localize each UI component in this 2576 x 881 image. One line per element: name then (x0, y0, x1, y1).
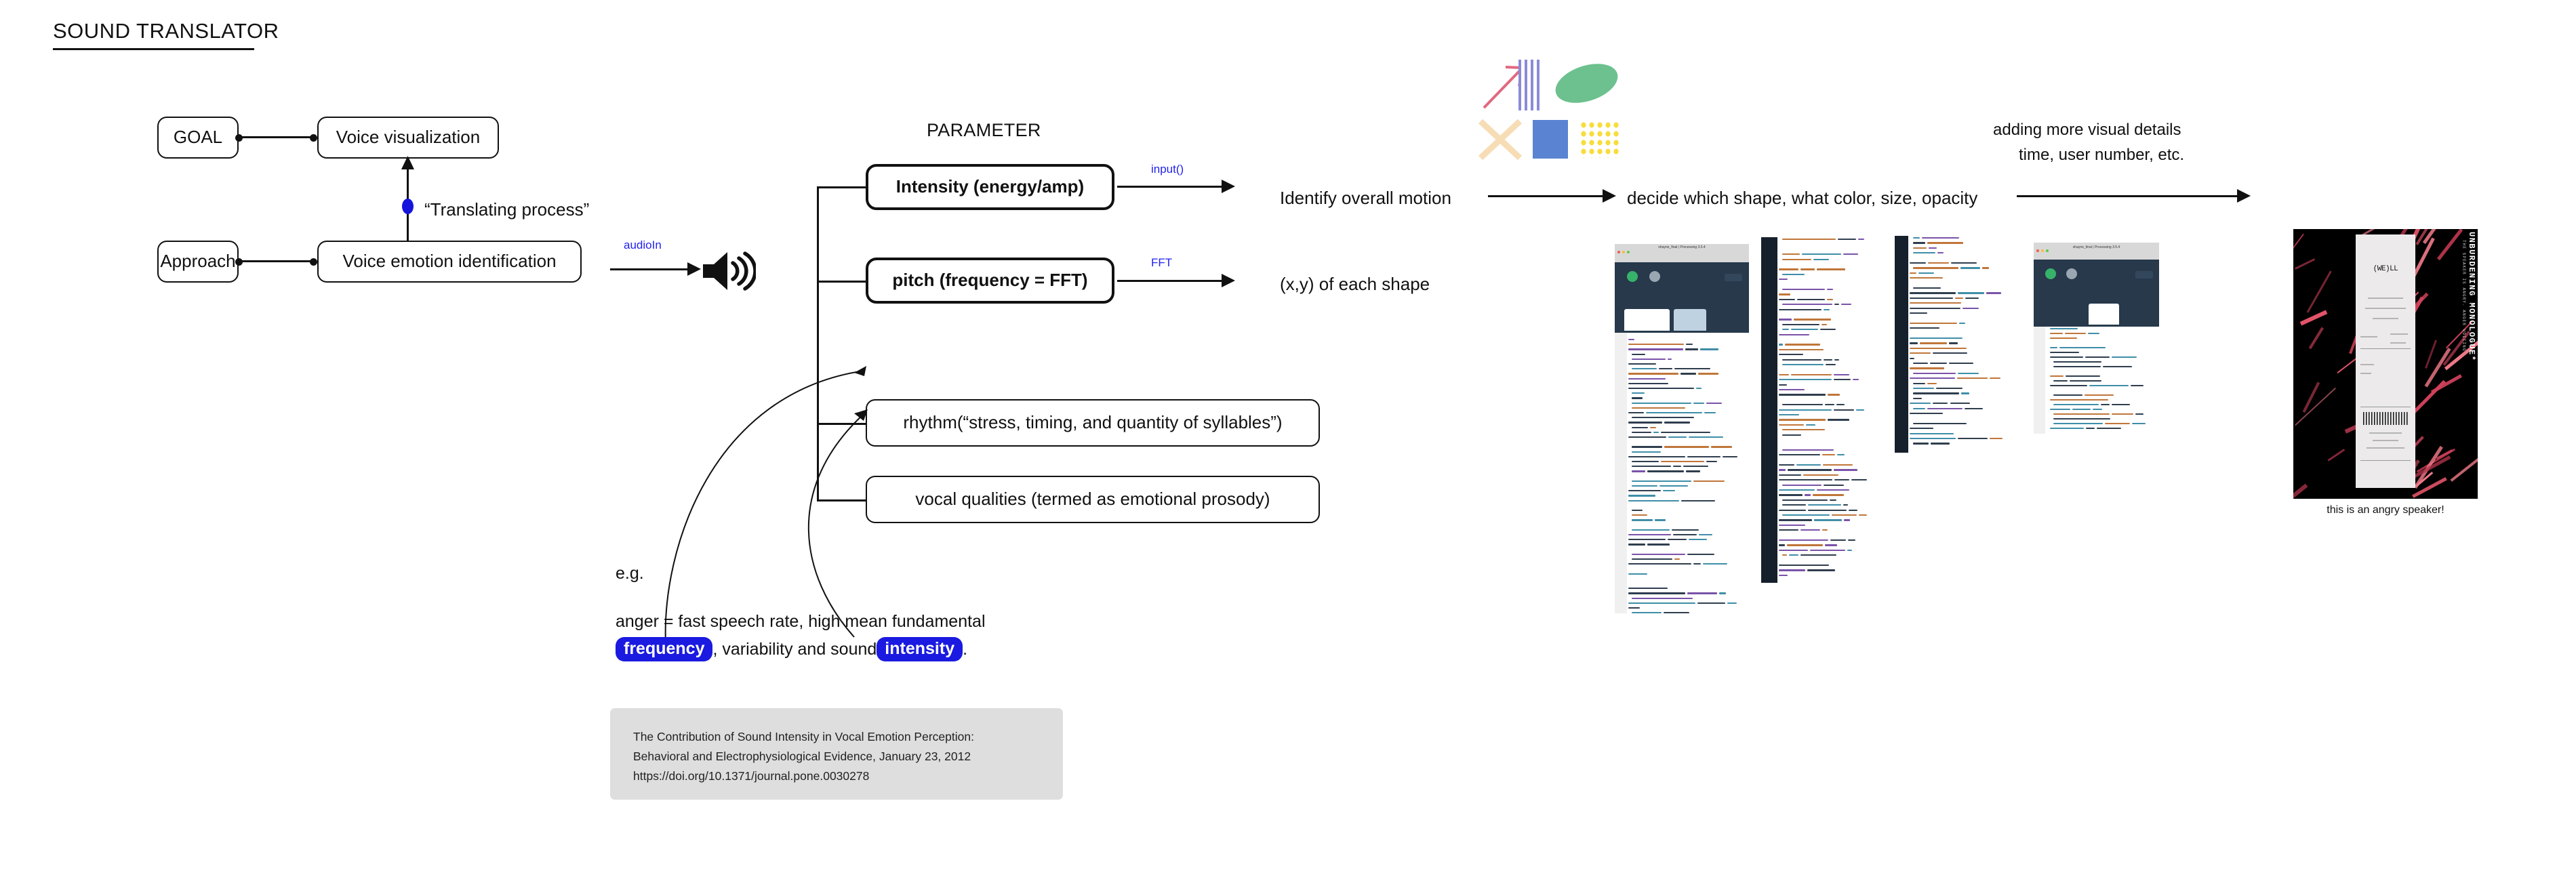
pitch-out-arrow-head (1222, 273, 1236, 288)
parameter-section-title: PARAMETER (927, 120, 1041, 141)
highlight-frequency: frequency (616, 637, 712, 661)
example-tail-text: . (963, 640, 967, 659)
poster-brush-stroke (2295, 258, 2315, 269)
citation-line-3[interactable]: https://doi.org/10.1371/journal.pone.003… (633, 766, 1040, 786)
stop-button-icon[interactable] (1649, 271, 1660, 282)
parameter-box-rhythm[interactable]: rhythm(“stress, timing, and quantity of … (866, 399, 1320, 447)
diagram-canvas: SOUND TRANSLATOR GOAL Voice visualizatio… (0, 0, 2576, 881)
goal-label: GOAL (174, 127, 222, 148)
poster-logo: (WE)LL (2356, 265, 2415, 273)
citation-line-1: The Contribution of Sound Intensity in V… (633, 727, 1040, 747)
code-window-1-titlebar: shayne_final | Processing 3.5.4 (1615, 244, 1749, 262)
pipeline-details-line-1: adding more visual details (1993, 121, 2181, 140)
poster-brush-stroke (2327, 449, 2345, 462)
poster-brush-stroke (2306, 271, 2331, 314)
square-shape (1533, 120, 1568, 159)
run-button-icon[interactable] (2045, 268, 2056, 279)
code-window-1-editor[interactable] (1615, 333, 1749, 613)
intensity-out-arrow-head (1222, 179, 1236, 194)
code-window-1-title: shayne_final | Processing 3.5.4 (1615, 245, 1749, 249)
citation-line-2: Behavioral and Electrophysiological Evid… (633, 747, 1040, 766)
example-line-1: anger = fast speech rate, high mean fund… (616, 612, 986, 632)
run-button-icon[interactable] (1627, 271, 1638, 282)
voice-emotion-label: Voice emotion identification (342, 251, 556, 272)
code-window-4-title: shayne_final | Processing 3.5.4 (2034, 245, 2159, 249)
citation-box: The Contribution of Sound Intensity in V… (610, 708, 1063, 800)
code-window-4[interactable]: shayne_final | Processing 3.5.4 (2034, 243, 2159, 434)
cross-shape (1478, 119, 1523, 161)
window-controls-icon (1617, 251, 1630, 253)
pipeline-details-line-2: time, user number, etc. (2019, 146, 2184, 165)
parameter-label-intensity: Intensity (energy/amp) (896, 177, 1084, 197)
highlight-intensity: intensity (877, 637, 963, 661)
poster-brush-stroke (2293, 234, 2304, 251)
voice-visualization-box[interactable]: Voice visualization (317, 117, 499, 159)
poster-brush-stroke (2295, 388, 2336, 426)
motion-to-shape-arrow-head (1603, 188, 1617, 203)
approach-box[interactable]: Approach (157, 241, 239, 283)
voice-emotion-box[interactable]: Voice emotion identification (317, 241, 582, 283)
motion-to-shape-arrow-shaft (1488, 195, 1607, 197)
mode-select[interactable] (1725, 274, 1742, 281)
page-title: SOUND TRANSLATOR (53, 19, 279, 43)
code-gutter (1761, 237, 1777, 583)
dot-grid-shape (1579, 121, 1622, 158)
shape-to-details-arrow-head (2237, 188, 2252, 203)
ellipse-shape (1550, 57, 1622, 110)
tab-arrow[interactable] (1674, 309, 1706, 331)
poster-brush-stroke (2293, 484, 2308, 499)
translating-arrow-head (400, 156, 416, 171)
poster-brush-stroke (2299, 310, 2327, 326)
parameter-box-vocal-qualities[interactable]: vocal qualities (termed as emotional pro… (866, 476, 1320, 523)
code-window-3-editor[interactable] (1895, 236, 2015, 453)
poster-brush-stroke (2302, 382, 2320, 413)
code-window-1[interactable]: shayne_final | Processing 3.5.4 (1615, 244, 1749, 613)
voice-visualization-connector-dot (310, 134, 317, 142)
voice-emotion-connector-dot (310, 258, 317, 266)
poster-brush-stroke (2451, 453, 2478, 482)
code-gutter (1895, 236, 1908, 453)
code-window-1-toolbar (1615, 262, 1749, 306)
parameter-label-vocal-qualities: vocal qualities (termed as emotional pro… (915, 489, 1270, 510)
annotation-fft-code: FFT (1151, 256, 1172, 270)
window-controls-icon (2036, 249, 2049, 252)
approach-link-line (239, 260, 313, 262)
annotation-input-result: Identify overall motion (1280, 188, 1451, 209)
tab-shayne-final[interactable] (2042, 304, 2085, 325)
code-window-3[interactable] (1895, 236, 2015, 453)
code-window-4-editor[interactable] (2034, 327, 2159, 434)
goal-box[interactable]: GOAL (157, 117, 239, 159)
code-gutter (1615, 333, 1627, 613)
approach-label: Approach (160, 251, 235, 272)
example-mid-text: , variability and sound (712, 640, 877, 659)
page-title-group: SOUND TRANSLATOR (53, 19, 279, 50)
example-line-2: frequency , variability and sound intens… (616, 637, 967, 661)
stop-button-icon[interactable] (2066, 268, 2077, 279)
tab-shayne-final[interactable] (1624, 309, 1670, 331)
poster-receipt: (WE)LL (2356, 234, 2415, 488)
mode-select[interactable] (2135, 271, 2153, 279)
goal-link-line (239, 136, 313, 138)
poster-vertical-sub: THE SPEAKER IS ANGRY. ANGER VOICING (2461, 240, 2466, 352)
code-window-4-titlebar: shayne_final | Processing 3.5.4 (2034, 243, 2159, 260)
pipeline-step-shape: decide which shape, what color, size, op… (1627, 188, 1977, 209)
poster-vertical-title: UNBURDENING MONOLOGUE* (2467, 232, 2476, 361)
shape-to-details-arrow-shaft (2017, 195, 2240, 197)
annotation-input-code: input() (1151, 163, 1184, 176)
poster-brush-stroke (2437, 229, 2463, 260)
example-eg-label: e.g. (616, 564, 644, 583)
stripes-shape (1518, 60, 1541, 110)
poster-barcode (2363, 412, 2408, 425)
code-window-1-tabs (1615, 307, 1749, 333)
translating-process-label: “Translating process” (424, 199, 589, 220)
code-gutter (2034, 327, 2045, 434)
code-window-2[interactable] (1761, 237, 1876, 583)
voice-visualization-label: Voice visualization (336, 127, 480, 148)
code-window-4-toolbar (2034, 260, 2159, 302)
code-window-2-editor[interactable] (1761, 237, 1876, 583)
poster-caption: this is an angry speaker! (2293, 504, 2478, 516)
translating-process-dot (402, 199, 414, 214)
title-underline (53, 48, 254, 50)
intensity-out-arrow-shaft (1117, 186, 1226, 188)
example-curve-connectors (630, 169, 915, 657)
pitch-out-arrow-shaft (1117, 280, 1226, 282)
parameter-label-rhythm: rhythm(“stress, timing, and quantity of … (903, 413, 1282, 433)
poster-brush-stroke (2308, 327, 2323, 349)
annotation-fft-result: (x,y) of each shape (1280, 274, 1430, 295)
poster-brush-stroke (2425, 340, 2437, 369)
poster-image: (WE)LL UNBURDENING MONOLOGUE* THE SPEAKE… (2293, 229, 2478, 499)
parameter-label-pitch: pitch (frequency = FFT) (892, 270, 1087, 291)
code-window-4-tabs (2034, 302, 2159, 327)
tab-arrow[interactable] (2089, 304, 2118, 325)
